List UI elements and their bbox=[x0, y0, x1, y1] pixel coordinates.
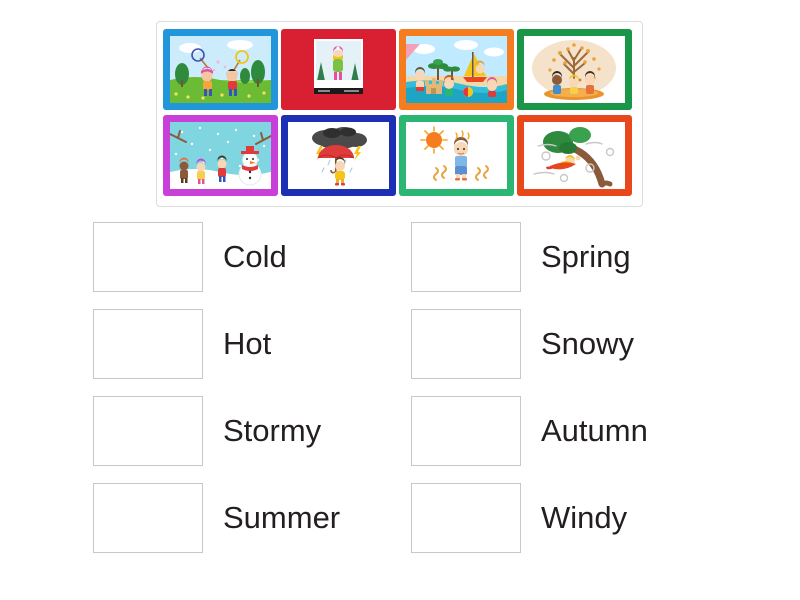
summer-tile-image bbox=[406, 36, 507, 103]
hot-tile-image bbox=[406, 122, 507, 189]
spring-tile[interactable] bbox=[163, 29, 278, 110]
stormy-tile[interactable] bbox=[281, 115, 396, 196]
summer-scene-icon bbox=[406, 36, 507, 103]
autumn-tile[interactable] bbox=[517, 29, 632, 110]
spring-scene-icon bbox=[170, 36, 271, 103]
answer-label-windy: Windy bbox=[541, 483, 627, 553]
answer-label-cold: Cold bbox=[223, 222, 287, 292]
answer-label-spring: Spring bbox=[541, 222, 631, 292]
dropzone-autumn[interactable] bbox=[411, 396, 521, 466]
answer-label-hot: Hot bbox=[223, 309, 271, 379]
image-tile-tray bbox=[156, 21, 643, 207]
hot-scene-icon bbox=[406, 122, 507, 189]
snowy-tile[interactable] bbox=[163, 115, 278, 196]
tile-row-1 bbox=[163, 29, 636, 110]
answer-label-summer: Summer bbox=[223, 483, 340, 553]
windy-tile-image bbox=[524, 122, 625, 189]
hot-tile[interactable] bbox=[399, 115, 514, 196]
answer-item-hot: Hot bbox=[93, 309, 411, 396]
dropzone-hot[interactable] bbox=[93, 309, 203, 379]
answer-item-stormy: Stormy bbox=[93, 396, 411, 483]
spring-tile-image bbox=[170, 36, 271, 103]
answer-item-autumn: Autumn bbox=[411, 396, 729, 483]
dropzone-snowy[interactable] bbox=[411, 309, 521, 379]
dropzone-windy[interactable] bbox=[411, 483, 521, 553]
answer-row: Summer Windy bbox=[0, 483, 800, 570]
dropzone-stormy[interactable] bbox=[93, 396, 203, 466]
answer-label-autumn: Autumn bbox=[541, 396, 648, 466]
snowy-tile-image bbox=[170, 122, 271, 189]
dropzone-summer[interactable] bbox=[93, 483, 203, 553]
answer-item-windy: Windy bbox=[411, 483, 729, 570]
cold-tile[interactable] bbox=[281, 29, 396, 110]
cold-tile-image bbox=[288, 36, 389, 103]
answer-item-summer: Summer bbox=[93, 483, 411, 570]
cold-scene-icon bbox=[288, 36, 389, 103]
dropzone-cold[interactable] bbox=[93, 222, 203, 292]
stormy-scene-icon bbox=[288, 122, 389, 189]
windy-scene-icon bbox=[524, 122, 625, 189]
autumn-tile-image bbox=[524, 36, 625, 103]
answer-item-cold: Cold bbox=[93, 222, 411, 309]
answer-item-spring: Spring bbox=[411, 222, 729, 309]
answer-row: Hot Snowy bbox=[0, 309, 800, 396]
autumn-scene-icon bbox=[524, 36, 625, 103]
windy-tile[interactable] bbox=[517, 115, 632, 196]
answer-label-snowy: Snowy bbox=[541, 309, 634, 379]
answer-label-stormy: Stormy bbox=[223, 396, 321, 466]
answer-grid: Cold Spring Hot Snowy Stormy Autumn Summ… bbox=[0, 222, 800, 570]
snowy-scene-icon bbox=[170, 122, 271, 189]
summer-tile[interactable] bbox=[399, 29, 514, 110]
dropzone-spring[interactable] bbox=[411, 222, 521, 292]
stormy-tile-image bbox=[288, 122, 389, 189]
answer-item-snowy: Snowy bbox=[411, 309, 729, 396]
answer-row: Cold Spring bbox=[0, 222, 800, 309]
answer-row: Stormy Autumn bbox=[0, 396, 800, 483]
tile-row-2 bbox=[163, 115, 636, 196]
